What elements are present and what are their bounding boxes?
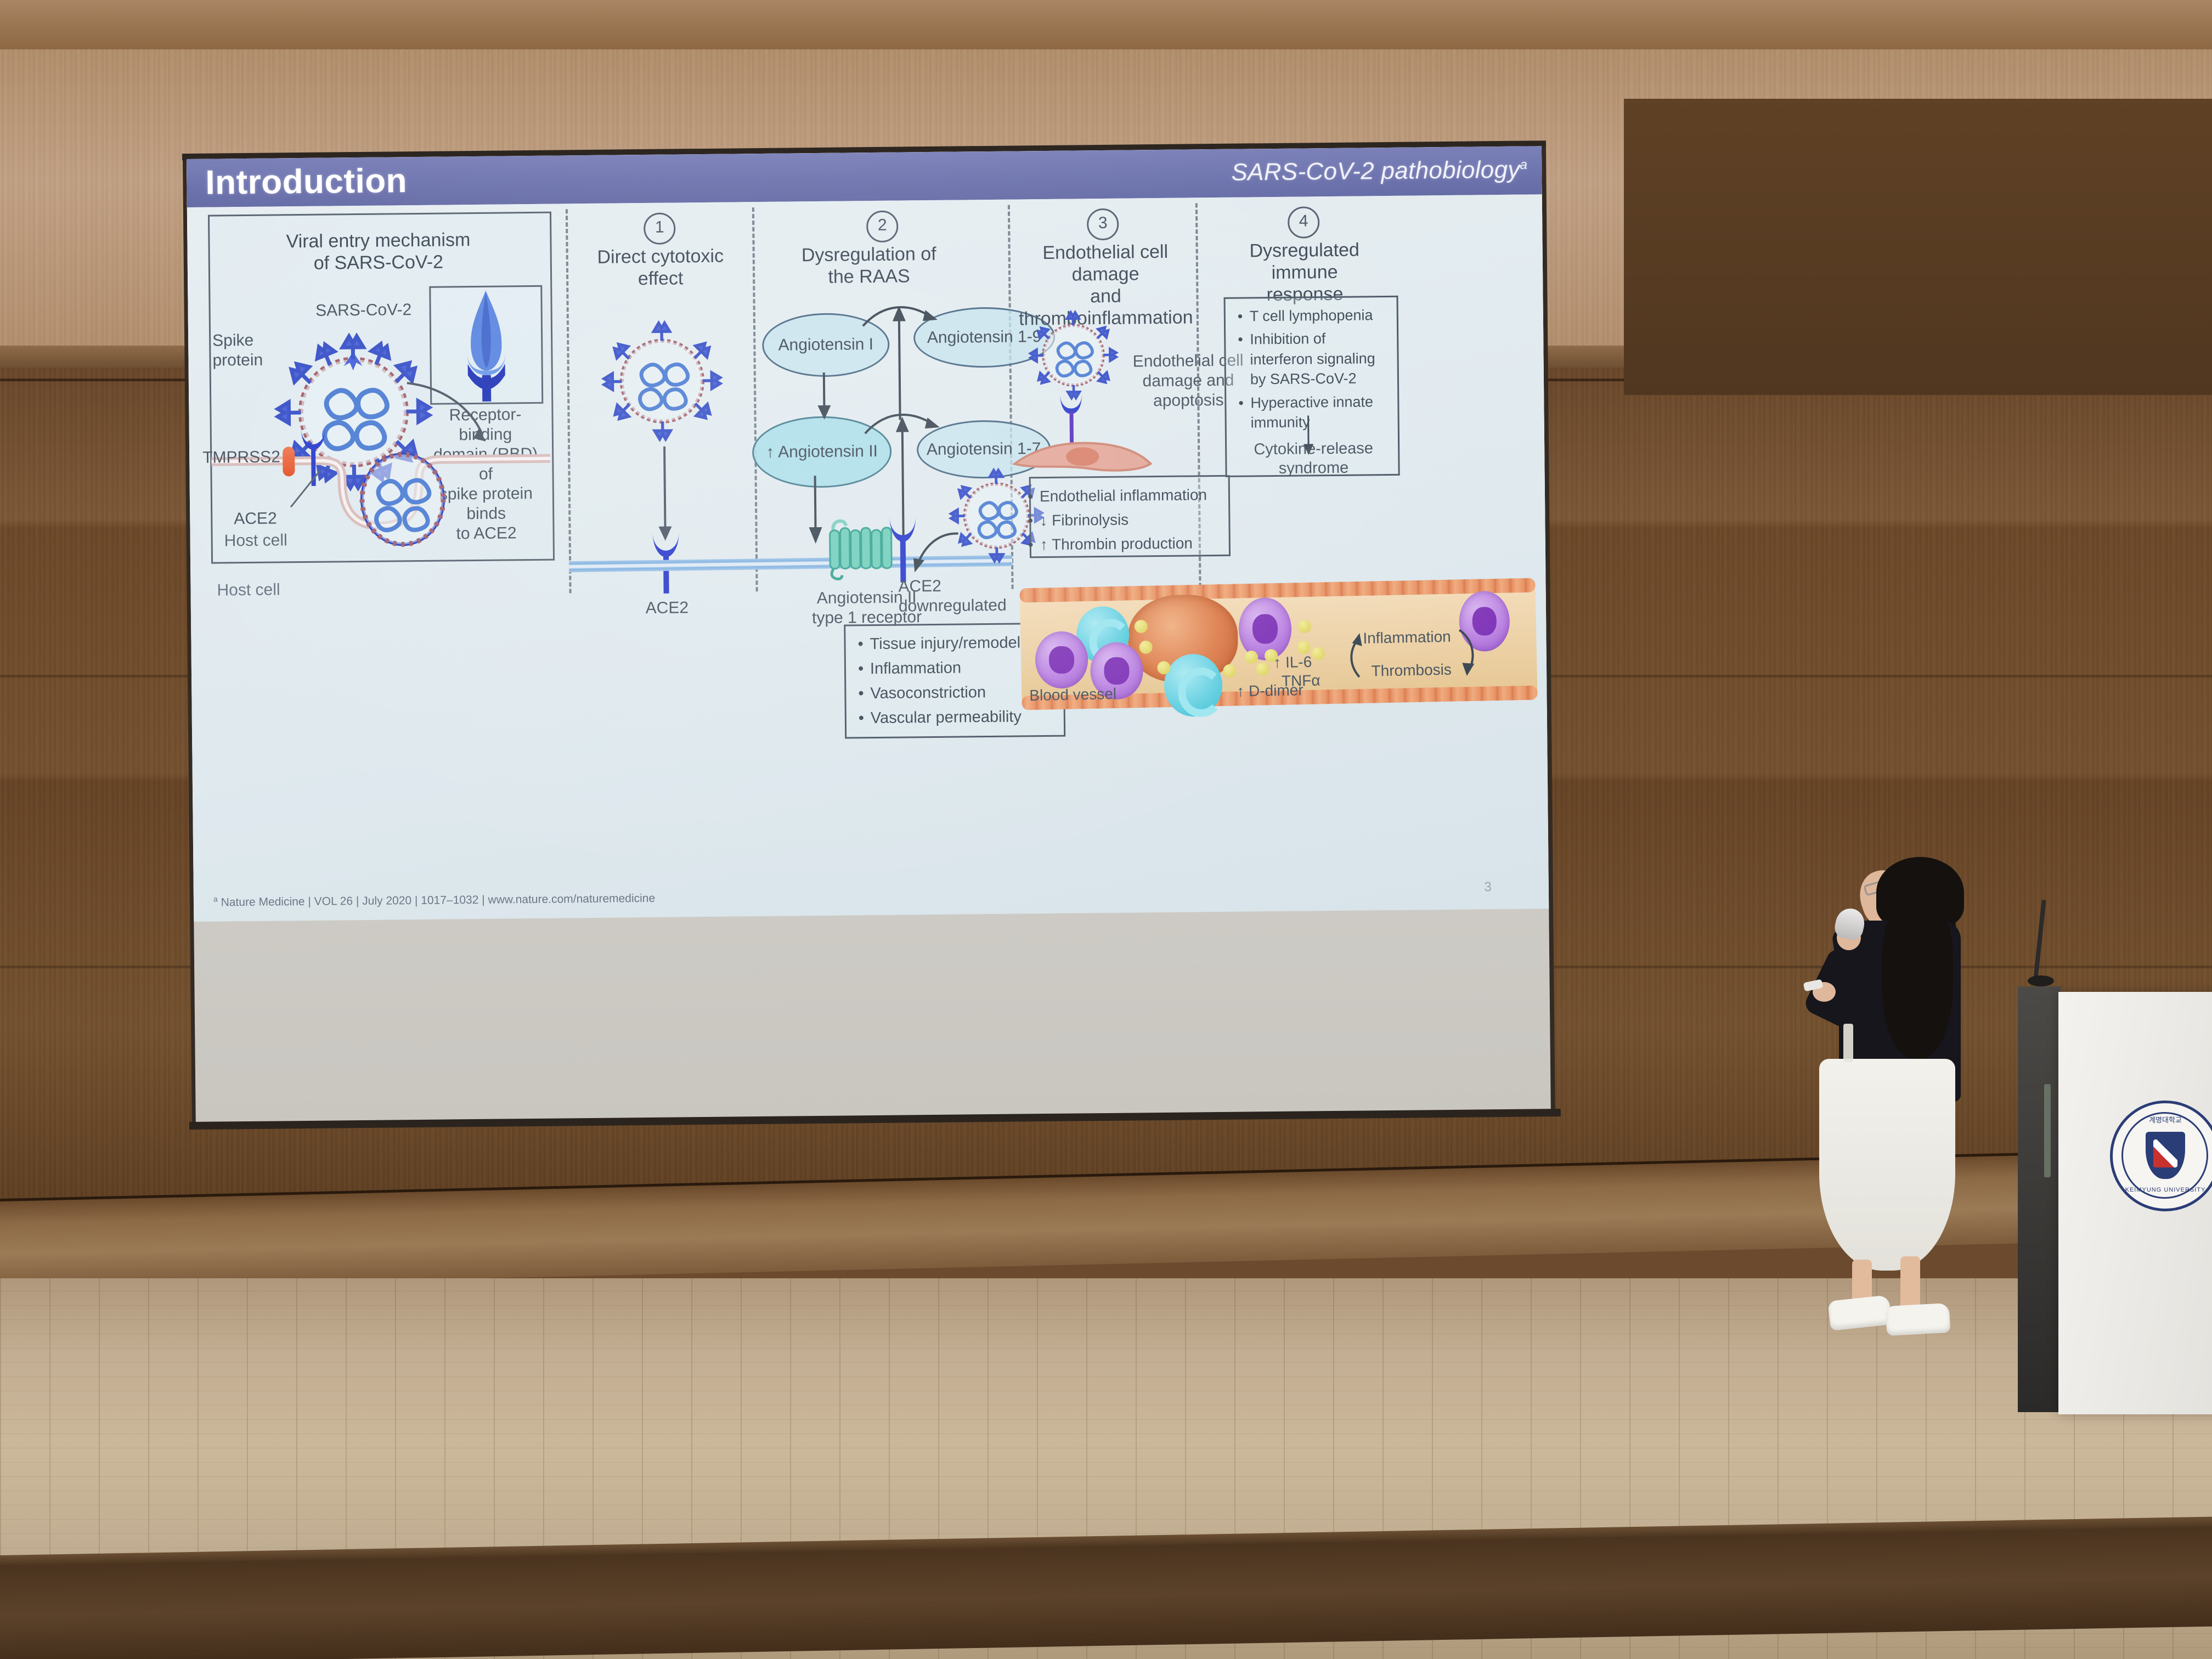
- keimyung-university-emblem: 계명대학교 KEIMYUNG UNIVERSITY: [2110, 1101, 2212, 1211]
- il6-label: ↑ IL-6: [1273, 652, 1351, 672]
- raas-heading-line2: the RAAS: [776, 265, 962, 289]
- viral-entry-heading-line2: of SARS-CoV-2: [230, 250, 527, 275]
- panel-number-2: 2: [866, 211, 899, 243]
- raas-heading: Dysregulation of the RAAS: [776, 242, 963, 288]
- endothelial-info-item: Endothelial inflammation: [1040, 484, 1220, 507]
- raas-arrow-i-to-ii: [813, 373, 836, 423]
- presenter-hair-long: [1882, 894, 1953, 1059]
- direct-cytotoxic-heading: Direct cytotoxic effect: [578, 245, 743, 290]
- endothelial-heading-line1: Endothelial cell damage: [1015, 240, 1197, 286]
- podium-microphone-base: [2028, 975, 2054, 986]
- presentation-slide: Introduction SARS-CoV-2 pathobiologya Vi…: [187, 146, 1549, 922]
- viral-entry-heading-line1: Viral entry mechanism: [230, 228, 526, 253]
- immune-heading-line1: Dysregulated immune: [1217, 239, 1393, 284]
- slide-subtitle-superscript: a: [1520, 157, 1527, 172]
- presenter-lanyard: [1843, 1024, 1853, 1062]
- emblem-korean-text: 계명대학교: [2113, 1114, 2212, 1125]
- raas-heading-line1: Dysregulation of: [776, 242, 962, 266]
- ace2-label-panel-a: ACE2: [234, 509, 316, 529]
- wall-top-trim: [0, 0, 2212, 49]
- tmprss2-label: TMPRSS2: [202, 448, 285, 467]
- wall-dark-recess: [1624, 99, 2212, 395]
- host-cell-label-outer: Host cell: [217, 580, 381, 600]
- endosome-virion-icon: [347, 444, 458, 555]
- cytokine-release-syndrome-label: Cytokine-release syndrome: [1232, 439, 1395, 478]
- panel-number-4: 4: [1288, 206, 1320, 239]
- panel-number-3: 3: [1087, 208, 1119, 241]
- footer-citation-text: Nature Medicine | VOL 26 | July 2020 | 1…: [221, 892, 656, 909]
- ace2-leader-line: [263, 469, 324, 514]
- presenter-right-shoe: [1886, 1303, 1951, 1336]
- immune-info-item: T cell lymphopenia: [1250, 305, 1388, 326]
- endothelial-cell-icon: [1012, 432, 1155, 476]
- raas-ace2-upward-arrow-top: [888, 301, 911, 422]
- virion-icon-panel-1: [599, 318, 726, 445]
- virion-to-ace2-arrow: [901, 527, 962, 577]
- slide-content-area: Viral entry mechanism of SARS-CoV-2: [187, 194, 1549, 922]
- podium-side-panel: [2018, 986, 2061, 1412]
- presenter-right-leg: [1900, 1256, 1920, 1309]
- lecture-hall-photo: Introduction SARS-CoV-2 pathobiologya Vi…: [0, 0, 2212, 1659]
- presenter: [1799, 856, 2030, 1404]
- emblem-english-text: KEIMYUNG UNIVERSITY: [2113, 1187, 2212, 1193]
- footer-superscript: a: [213, 895, 218, 904]
- presenter-left-shoe: [1827, 1295, 1892, 1330]
- lectern: 계명대학교 KEIMYUNG UNIVERSITY: [1997, 900, 2212, 1415]
- immune-cell-cyan: [1164, 653, 1223, 717]
- slide-footer-citation: a Nature Medicine | VOL 26 | July 2020 |…: [213, 890, 655, 910]
- slide-page-number: 3: [1484, 879, 1492, 895]
- immune-info-item: Hyperactive innate immunity: [1250, 392, 1389, 433]
- presenter-skirt: [1819, 1059, 1955, 1271]
- endothelial-inflammation-box: Endothelial inflammation ↓ Fibrinolysis …: [1029, 475, 1231, 558]
- immune-dysregulation-box: T cell lymphopenia Inhibition of interfe…: [1224, 296, 1400, 477]
- inflammation-up-arrow: [1343, 631, 1369, 679]
- viral-entry-heading: Viral entry mechanism of SARS-CoV-2: [230, 228, 527, 275]
- ace2-label-panel-1: ACE2: [612, 599, 722, 618]
- virion-icon-panel-3: [1026, 308, 1121, 403]
- blood-vessel-label: Blood vessel: [1029, 685, 1139, 704]
- endothelial-info-item: ↓ Fibrinolysis: [1040, 509, 1220, 531]
- panel-number-1: 1: [644, 212, 676, 245]
- direct-cytotoxic-heading-line1: Direct cytotoxic: [578, 245, 743, 268]
- panel-divider-1: [566, 209, 572, 593]
- immune-info-item: Inhibition of interferon signaling by SA…: [1250, 328, 1389, 390]
- thrombosis-down-arrow: [1454, 627, 1483, 678]
- crs-line1: Cytokine-release: [1232, 439, 1395, 460]
- crs-line2: syndrome: [1232, 458, 1395, 479]
- podium-microphone-stand: [2033, 900, 2046, 980]
- page-title: Introduction: [205, 161, 407, 202]
- endothelial-info-item: ↑ Thrombin production: [1040, 533, 1220, 555]
- panel-divider-2: [752, 207, 758, 591]
- podium-control-strip: [2044, 1084, 2051, 1177]
- projection-screen: Introduction SARS-CoV-2 pathobiologya Vi…: [187, 146, 1551, 1125]
- host-cell-label-inside: Host cell: [224, 531, 356, 550]
- sars-cov-2-label: SARS-CoV-2: [287, 301, 441, 321]
- d-dimer-label: ↑ D-dimer: [1237, 680, 1347, 700]
- direct-cytotoxic-heading-line2: effect: [578, 267, 743, 290]
- blood-vessel-illustration: ↑ IL-6 TNFα ↑ D-dimer Blood vessel Infla…: [1019, 576, 1537, 714]
- slide-subtitle-text: SARS-CoV-2 pathobiology: [1231, 156, 1520, 186]
- slide-subtitle: SARS-CoV-2 pathobiologya: [1231, 156, 1527, 187]
